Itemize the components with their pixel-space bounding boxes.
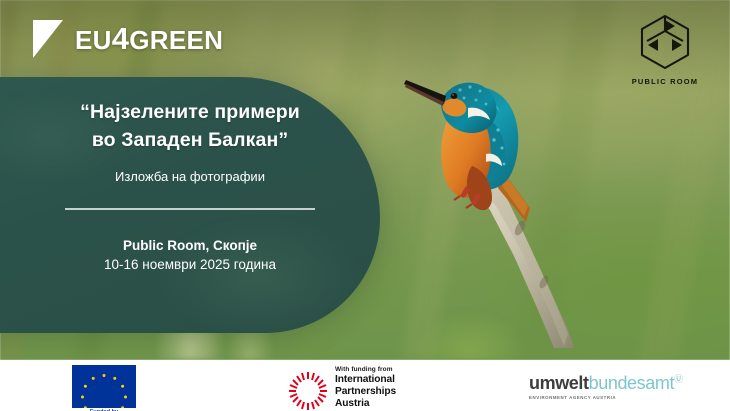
eu4green-suffix: GREEN (129, 25, 223, 55)
poster-title: “Најзелените примери во Западен Балкан” (0, 99, 380, 154)
umweltbundesamt-subtitle: ENVIRONMENT AGENCY AUSTRIA (529, 395, 683, 400)
eu4green-wordmark: EU4GREEN (75, 21, 223, 57)
venue-text: Public Room, Скопје (0, 238, 380, 253)
divider-rule (65, 208, 315, 210)
eu4green-prefix: EU (75, 25, 112, 55)
eu-funding-logo: Funded by the European Union (48, 365, 160, 411)
poster-title-line-1: “Најзелените примери (0, 99, 380, 127)
public-room-label: PUBLIC ROOM (622, 77, 708, 86)
umweltbundesamt-logo: umweltbundesamtⓊ ENVIRONMENT AGENCY AUST… (529, 374, 683, 400)
ipa-name: International Partnerships Austria (335, 374, 396, 410)
poster-canvas: “Најзелените примери во Западен Балкан” … (0, 0, 730, 411)
kingfisher-bird (398, 58, 598, 348)
umweltbundesamt-light-part: bundesamt (589, 373, 674, 393)
umweltbundesamt-superscript-icon: Ⓤ (674, 374, 683, 384)
ipa-text-block: With funding from International Partners… (335, 364, 396, 410)
panel-content: “Најзелените примери во Западен Балкан” … (0, 77, 380, 333)
dates-text: 10-16 ноември 2025 година (0, 257, 380, 272)
eu4green-number: 4 (112, 21, 130, 56)
eu4green-logo: EU4GREEN (33, 20, 223, 58)
eu-flag-icon (72, 365, 136, 408)
ipa-with-funding-label: With funding from (335, 366, 396, 373)
umweltbundesamt-bold-part: umwelt (529, 373, 589, 393)
umweltbundesamt-wordmark: umweltbundesamtⓊ (529, 374, 683, 392)
ipa-name-line-2: Partnerships (335, 386, 396, 398)
international-partnerships-logo: With funding from International Partners… (288, 364, 396, 411)
eu4green-triangle-icon (33, 20, 63, 58)
ipa-name-line-1: International (335, 374, 396, 386)
poster-subtitle: Изложба на фотографии (0, 169, 380, 186)
ipa-name-line-3: Austria (335, 398, 396, 410)
cube-icon (639, 57, 691, 74)
funder-logo-bar: Funded by the European Union (0, 360, 730, 411)
sunburst-icon (288, 371, 328, 411)
public-room-logo: PUBLIC ROOM (622, 14, 708, 86)
poster-title-line-2: во Западен Балкан” (0, 127, 380, 155)
